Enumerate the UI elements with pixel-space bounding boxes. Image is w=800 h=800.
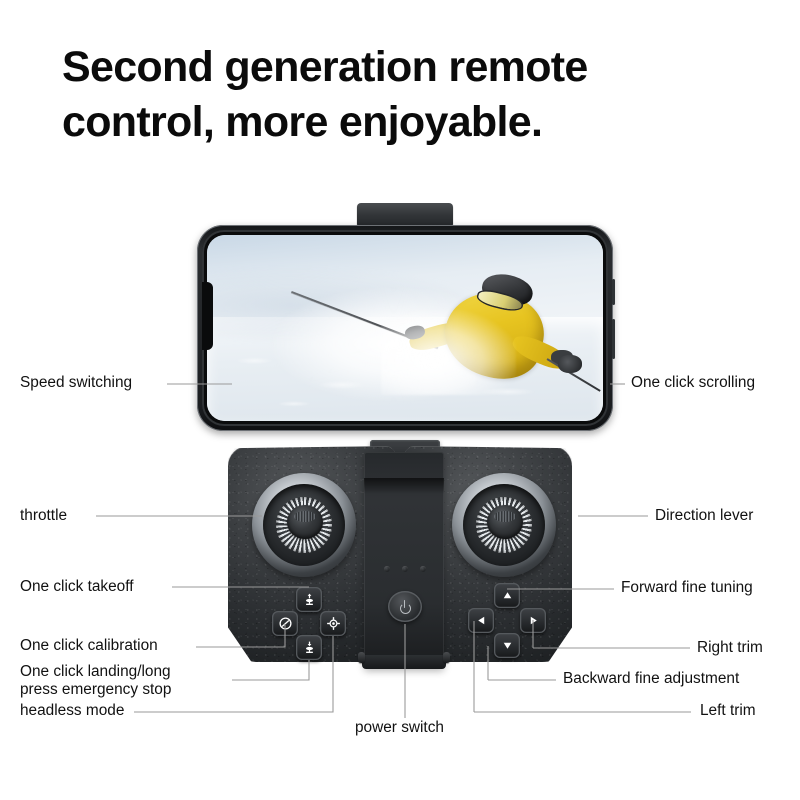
hinge-pin-left <box>358 652 365 663</box>
callout-forward-fine-tuning: Forward fine tuning <box>621 579 753 597</box>
joystick-well-right <box>463 484 545 566</box>
callout-power-switch: power switch <box>355 719 444 737</box>
callout-right-trim: Right trim <box>697 639 763 657</box>
headless-mode-button[interactable] <box>320 611 346 636</box>
power-icon <box>399 600 412 614</box>
target-icon <box>326 616 341 631</box>
callout-one-click-calibration: One click calibration <box>20 637 158 655</box>
throttle-joystick[interactable] <box>252 473 356 577</box>
hinge-pin-right <box>443 652 450 663</box>
joystick-fins-right <box>476 497 532 553</box>
joystick-fins-left <box>276 497 332 553</box>
triangle-up-icon <box>501 589 514 602</box>
phone-notch <box>202 282 213 350</box>
callout-headless-mode: headless mode <box>20 702 124 720</box>
led-indicator-1 <box>384 566 390 572</box>
indicator-leds <box>384 566 426 573</box>
calibration-button[interactable] <box>272 611 298 636</box>
dpad-left-button[interactable] <box>468 608 494 633</box>
clamp-shadow <box>364 478 444 494</box>
led-indicator-2 <box>402 566 408 572</box>
joystick-cap-ridges-right <box>494 511 516 522</box>
callout-one-click-scrolling: One click scrolling <box>631 374 755 392</box>
triangle-down-icon <box>501 639 514 652</box>
joystick-cap-ridges-left <box>294 511 316 522</box>
joystick-well-left <box>263 484 345 566</box>
controller-bottom-edge <box>362 655 446 669</box>
callout-speed-switching: Speed switching <box>20 374 132 392</box>
dpad-right-button[interactable] <box>520 608 546 633</box>
drone-up-icon <box>302 592 317 607</box>
joystick-cap-right <box>487 505 523 539</box>
joystick-cap-left <box>287 505 323 539</box>
led-indicator-3 <box>420 566 426 572</box>
callout-one-click-landing: One click landing/long press emergency s… <box>20 663 171 699</box>
drone-down-icon <box>302 640 317 655</box>
product-illustration: Speed switching throttle One click takeo… <box>0 0 800 800</box>
callout-throttle: throttle <box>20 507 67 525</box>
takeoff-button[interactable] <box>296 587 322 612</box>
dpad-down-button[interactable] <box>494 633 520 658</box>
dpad-up-button[interactable] <box>494 583 520 608</box>
triangle-right-icon <box>527 614 540 627</box>
landing-button[interactable] <box>296 635 322 660</box>
direction-joystick[interactable] <box>452 473 556 577</box>
callout-direction-lever: Direction lever <box>655 507 753 525</box>
callout-backward-fine-adjustment: Backward fine adjustment <box>563 670 739 688</box>
triangle-left-icon <box>475 614 488 627</box>
power-button[interactable] <box>388 591 422 622</box>
callout-one-click-takeoff: One click takeoff <box>20 578 134 596</box>
callout-left-trim: Left trim <box>700 702 756 720</box>
circle-slash-icon <box>278 616 293 631</box>
